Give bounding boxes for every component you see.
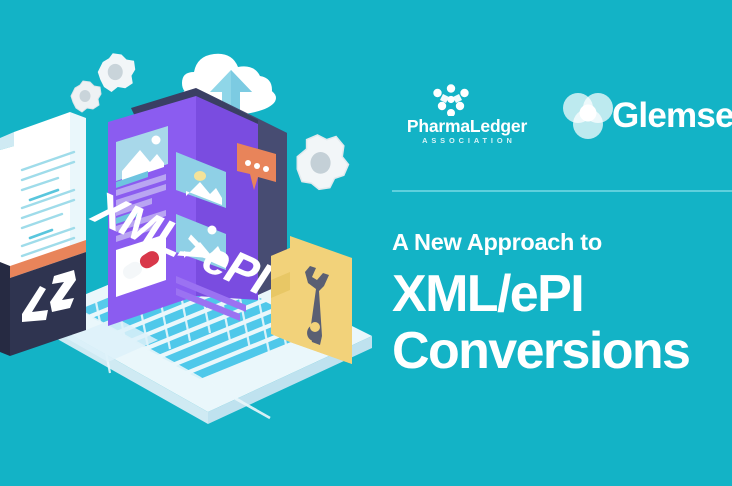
headline-block: A New Approach to XML/ePI Conversions (392, 228, 732, 380)
pharmaledger-logo: PharmaLedger ASSOCIATION (392, 84, 542, 150)
divider-line (392, 190, 732, 192)
text-panel: PharmaLedger ASSOCIATION Glemser (386, 0, 732, 486)
headline-kicker: A New Approach to (392, 228, 732, 256)
gear-small-icon (71, 81, 101, 112)
glemser-wordmark: Glemser (612, 96, 732, 136)
headline-line-2: Conversions (392, 323, 732, 380)
headline-line-1: XML/ePI (392, 266, 732, 323)
glemser-circles-icon (562, 92, 614, 140)
hero-illustration: XML>ePI (0, 0, 386, 486)
laptop-screen: XML>ePI (83, 88, 287, 326)
promo-banner: XML>ePI (0, 0, 732, 486)
pharmaledger-subtitle: ASSOCIATION (392, 136, 542, 145)
gear-medium-icon (98, 53, 136, 92)
glemser-logo: Glemser (562, 90, 732, 144)
gear-large-icon (297, 135, 348, 189)
logo-row: PharmaLedger ASSOCIATION Glemser (386, 84, 732, 150)
pharmaledger-wordmark: PharmaLedger (392, 117, 542, 136)
pharmaledger-flower-icon (432, 84, 470, 116)
